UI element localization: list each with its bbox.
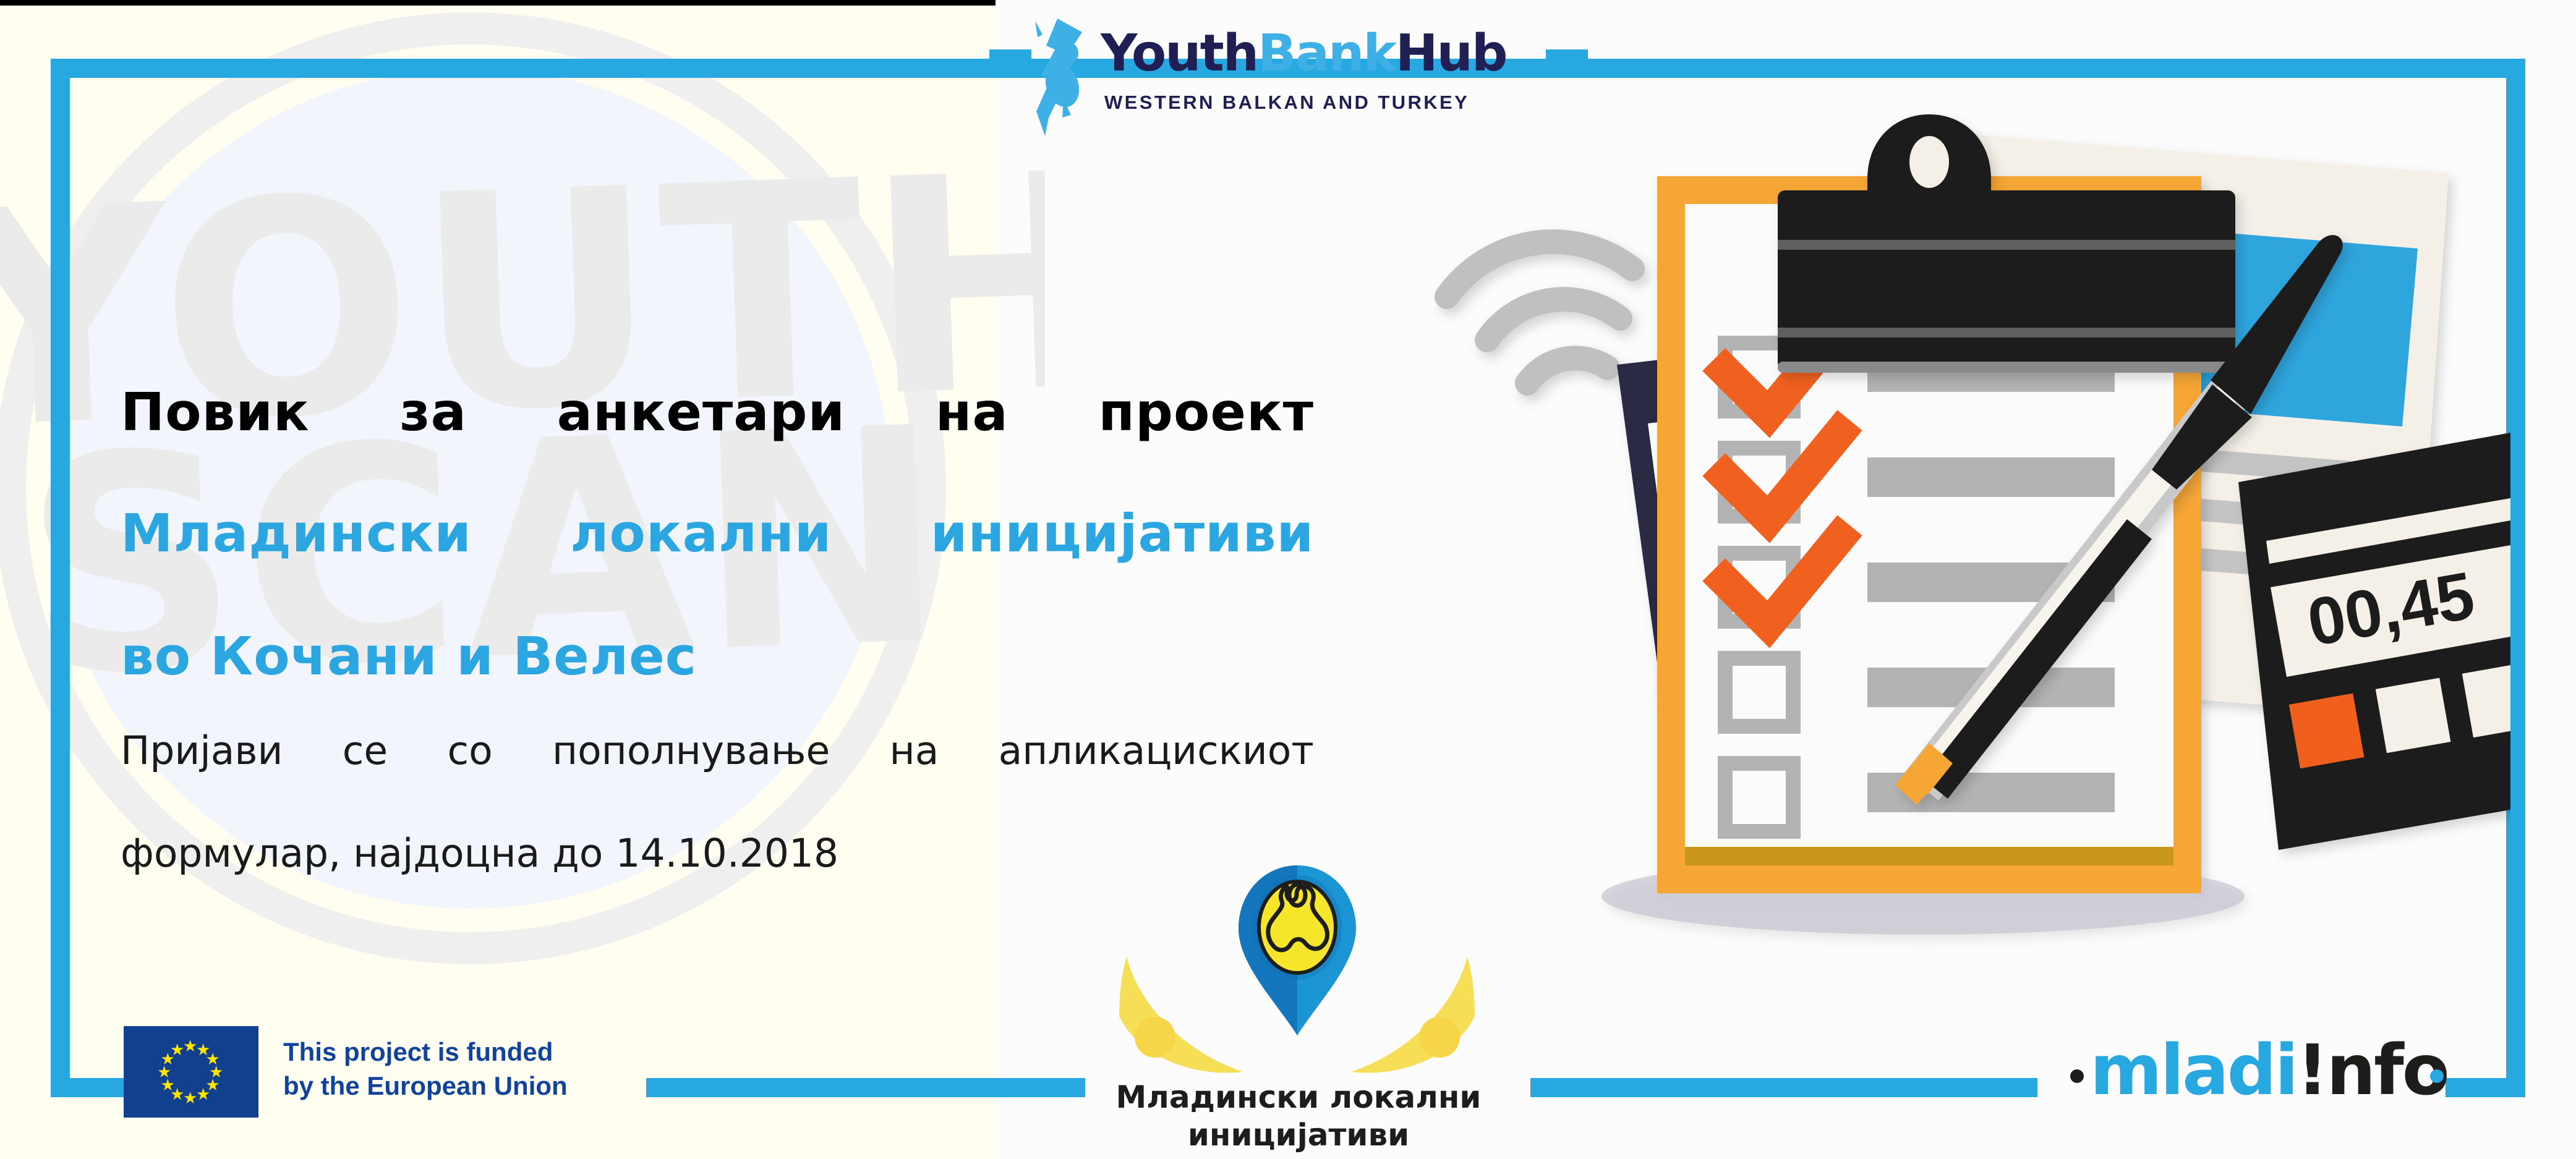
headline-primary: Повик за анкетари на проект [121, 383, 1314, 501]
eu-star-icon: ★ [196, 1086, 210, 1102]
wifi-signal-icon [1447, 242, 1632, 383]
mli-logo-line-1: Младински локални [1073, 1079, 1524, 1116]
frame-bottom-segment-2 [646, 1078, 1085, 1097]
copy-block: Повик за анкетари на проект Младински ло… [121, 383, 1314, 879]
logo-subtitle: WESTERN BALKAN AND TURKEY [1104, 91, 1469, 114]
eu-funding-line-1: This project is funded [283, 1035, 568, 1069]
mli-logo-line-2: иницијативи [1073, 1116, 1524, 1154]
logo-dash-left [989, 49, 1031, 70]
mli-logo-text: Младински локални иницијативи [1073, 1079, 1524, 1154]
eu-funding-line-2: by the European Union [283, 1069, 568, 1103]
clipboard-illustration-svg: 00,45 [1435, 80, 2510, 995]
logo-word-bank: Bank [1258, 24, 1396, 83]
body-copy: Пријави се со пополнување на апликациски… [121, 725, 1314, 879]
body-copy-line-1: Пријави се со пополнување на апликациски… [121, 725, 1314, 828]
mli-map-pin-icon [1239, 865, 1356, 1035]
eu-star-icon: ★ [183, 1038, 197, 1054]
frame-bottom-segment-4 [2446, 1078, 2525, 1097]
clipboard-illustration: 00,45 [1435, 80, 2510, 995]
splash-figure-icon [1030, 19, 1101, 136]
headline-project-line-2: во Кочани и Велес [121, 626, 1314, 687]
headline-project-line-1: Младински локални иницијативи [121, 503, 1314, 626]
headline-project: Младински локални иницијативи во Кочани … [121, 503, 1314, 687]
eu-funding-badge: ★★★★★★★★★★★★ This project is funded by t… [124, 1026, 674, 1119]
mli-head-right-icon [1419, 1017, 1460, 1058]
logo-word-youth: Youth [1101, 24, 1258, 83]
mladiinfo-word-dark: !nfo [2297, 1030, 2447, 1111]
eu-flag-icon: ★★★★★★★★★★★★ [124, 1026, 258, 1118]
mladiinfo-word-blue: mladi [2090, 1030, 2297, 1111]
mli-head-left-icon [1135, 1017, 1175, 1058]
frame-bottom-segment-3 [1530, 1078, 2037, 1097]
eu-funding-text: This project is funded by the European U… [283, 1035, 568, 1103]
top-black-edge [0, 0, 996, 6]
eu-star-icon: ★ [183, 1090, 197, 1106]
banner-root: YOUTH SCAN YouthBankHub WESTERN BALKAN A… [0, 0, 2576, 1159]
mladiinfo-dot-right-icon [2430, 1069, 2444, 1083]
logo-wordmark: YouthBankHub [1101, 28, 1507, 79]
frame-left-bar [51, 59, 70, 1097]
mladiinfo-dot-left-icon [2070, 1069, 2084, 1083]
mladiinfo-wordmark: mladi!nfo [2090, 1036, 2448, 1105]
logo-word-hub: Hub [1396, 24, 1507, 83]
calculator-icon: 00,45 [2238, 433, 2510, 850]
eu-star-icon: ★ [170, 1042, 184, 1058]
